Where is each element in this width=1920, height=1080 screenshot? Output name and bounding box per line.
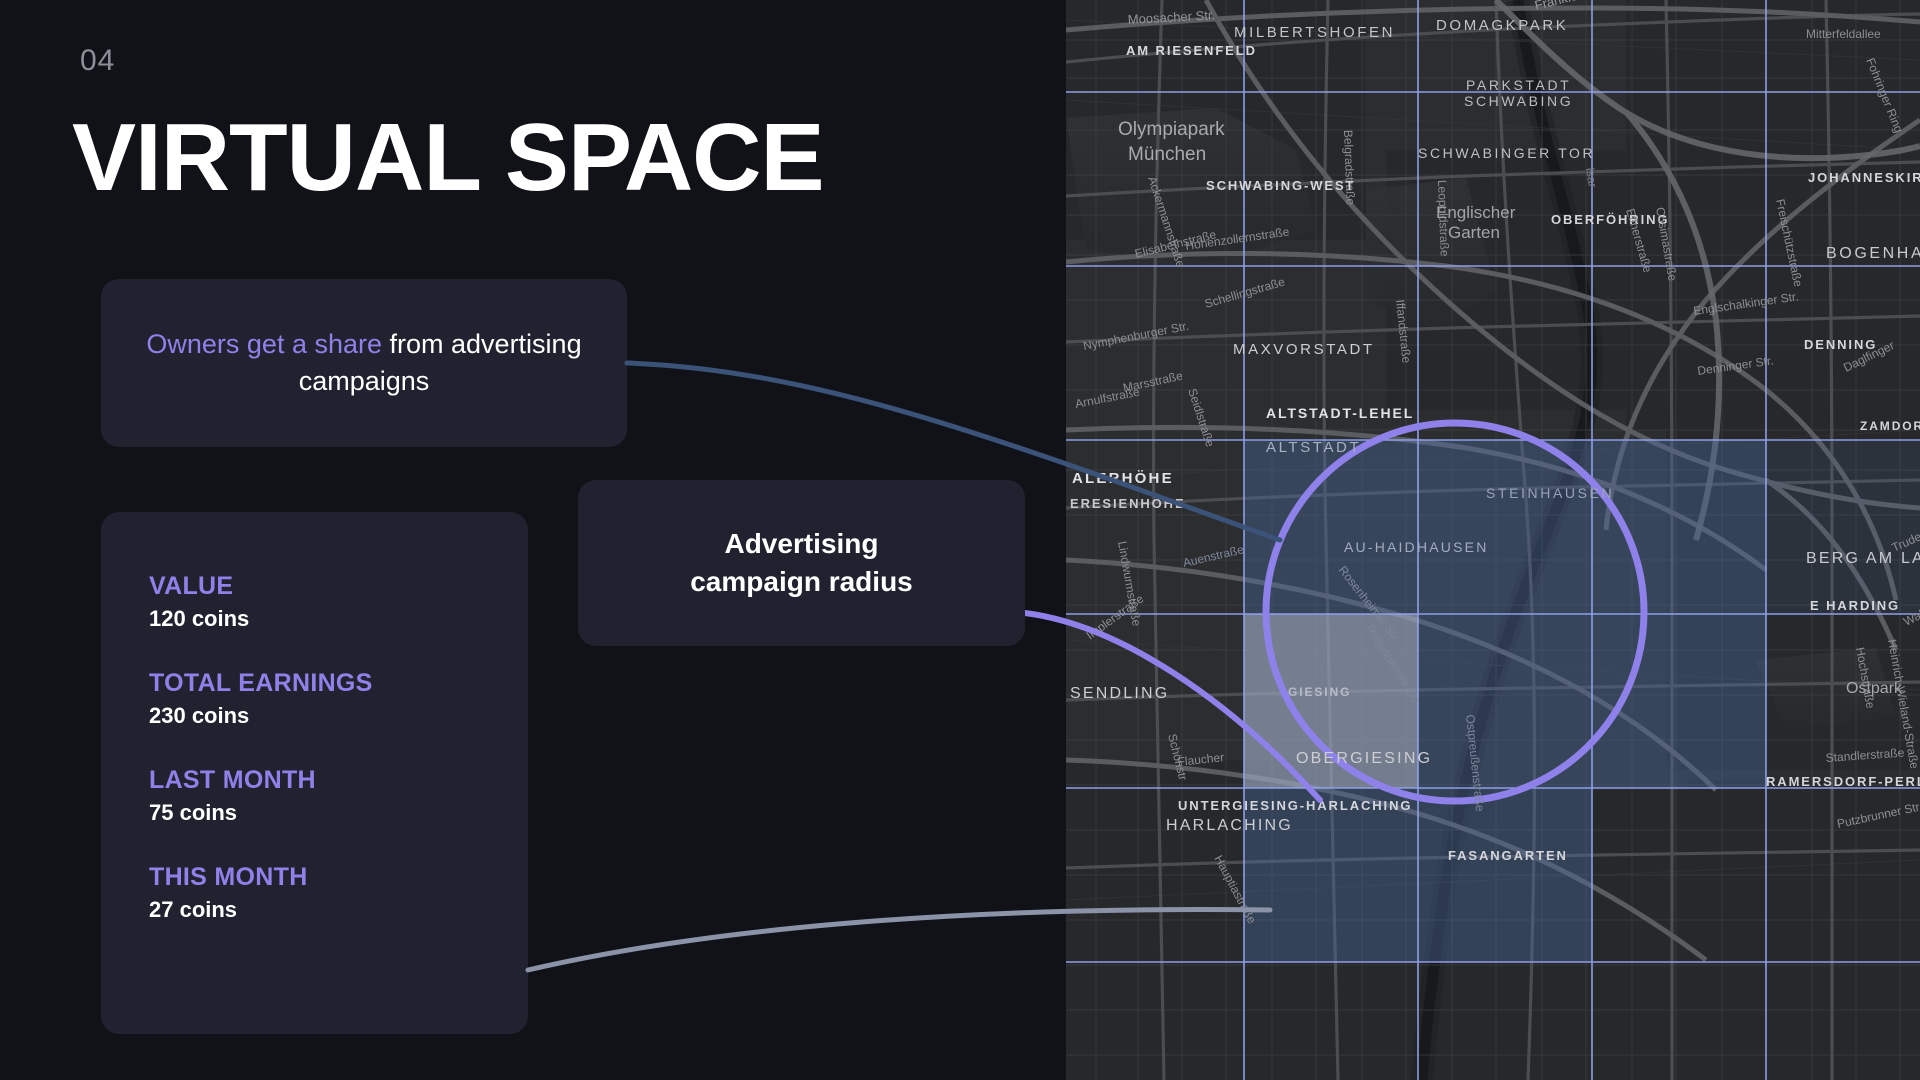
page-title: VIRTUAL SPACE xyxy=(72,110,824,206)
map-panel[interactable]: Moosacher Str.Frankfurter RingMitterfeld… xyxy=(1066,0,1920,1080)
owners-share-card[interactable]: Owners get a share from advertising camp… xyxy=(101,279,627,447)
map-label: MAXVORSTADT xyxy=(1233,341,1375,358)
map-label: ALTSTADT-LEHEL xyxy=(1266,405,1414,421)
map-label: AM RIESENFELD xyxy=(1126,43,1257,58)
stats-card[interactable]: VALUE 120 coins TOTAL EARNINGS 230 coins… xyxy=(101,512,528,1034)
map-label: MILBERTSHOFEN xyxy=(1234,24,1395,41)
stat-row: LAST MONTH 75 coins xyxy=(149,766,528,826)
map-label: Isar xyxy=(1583,166,1600,188)
map-label: DOMAGKPARK xyxy=(1436,17,1568,34)
advertising-radius-text: Advertising campaign radius xyxy=(690,525,913,600)
radius-line-1: Advertising xyxy=(724,528,878,559)
map-label: OBERGIESING xyxy=(1296,750,1432,767)
stat-row: TOTAL EARNINGS 230 coins xyxy=(149,669,528,729)
map-label: Mitterfeldallee xyxy=(1806,27,1881,41)
map-label: JOHANNESKIRCHEN xyxy=(1808,170,1920,185)
map-label: PARKSTADT xyxy=(1466,77,1571,93)
stat-value: 230 coins xyxy=(149,703,528,729)
map-label: ALTSTADT xyxy=(1266,439,1361,456)
map-label: GIESING xyxy=(1288,685,1351,699)
slide-number: 04 xyxy=(80,44,115,78)
stat-value: 75 coins xyxy=(149,800,528,826)
map-label: HARLACHING xyxy=(1166,817,1293,834)
advertising-radius-card[interactable]: Advertising campaign radius xyxy=(578,480,1025,646)
map-label: SCHWABING-WEST xyxy=(1206,178,1355,193)
stat-value: 27 coins xyxy=(149,897,528,923)
map-label: BERG AM LAIM xyxy=(1806,550,1920,567)
map-label: UNTERGIESING-HARLACHING xyxy=(1178,798,1412,813)
stat-row: THIS MONTH 27 coins xyxy=(149,863,528,923)
slide-canvas: Moosacher Str.Frankfurter RingMitterfeld… xyxy=(0,0,1920,1080)
map-label: ERESIENHÖHE xyxy=(1070,496,1186,511)
stat-label: LAST MONTH xyxy=(149,766,528,795)
map-label: RAMERSDORF-PERLACH xyxy=(1766,774,1920,789)
stat-label: TOTAL EARNINGS xyxy=(149,669,528,698)
map-label: Olympiapark xyxy=(1118,119,1225,140)
map-label: Englischer xyxy=(1436,203,1516,222)
map-label: E HARDING xyxy=(1810,598,1900,613)
map-label: BOGENHAUSEN xyxy=(1826,245,1920,262)
stat-label: VALUE xyxy=(149,572,528,601)
map-label: SCHWABINGER TOR xyxy=(1418,145,1595,161)
map-label: Belgradstraße xyxy=(1341,130,1358,206)
stat-value: 120 coins xyxy=(149,606,528,632)
map-label: SENDLING xyxy=(1070,685,1169,702)
map-canvas: Moosacher Str.Frankfurter RingMitterfeld… xyxy=(1066,0,1920,1080)
stat-label: THIS MONTH xyxy=(149,863,528,892)
map-label: ZAMDORF xyxy=(1860,419,1920,433)
stat-row: VALUE 120 coins xyxy=(149,572,528,632)
map-label: STEINHAUSEN xyxy=(1486,485,1614,501)
map-label: Garten xyxy=(1448,223,1500,242)
map-label: SCHWABING xyxy=(1464,93,1573,109)
map-label: AU-HAIDHAUSEN xyxy=(1344,539,1489,555)
map-label: ALERHÖHE xyxy=(1072,470,1174,487)
map-label: München xyxy=(1128,144,1206,165)
owners-share-accent: Owners get a share xyxy=(146,329,382,359)
radius-line-2: campaign radius xyxy=(690,566,913,597)
owners-share-text: Owners get a share from advertising camp… xyxy=(101,326,627,399)
map-label: FASANGARTEN xyxy=(1448,848,1568,863)
map-label: OBERFÖHRING xyxy=(1551,212,1669,227)
